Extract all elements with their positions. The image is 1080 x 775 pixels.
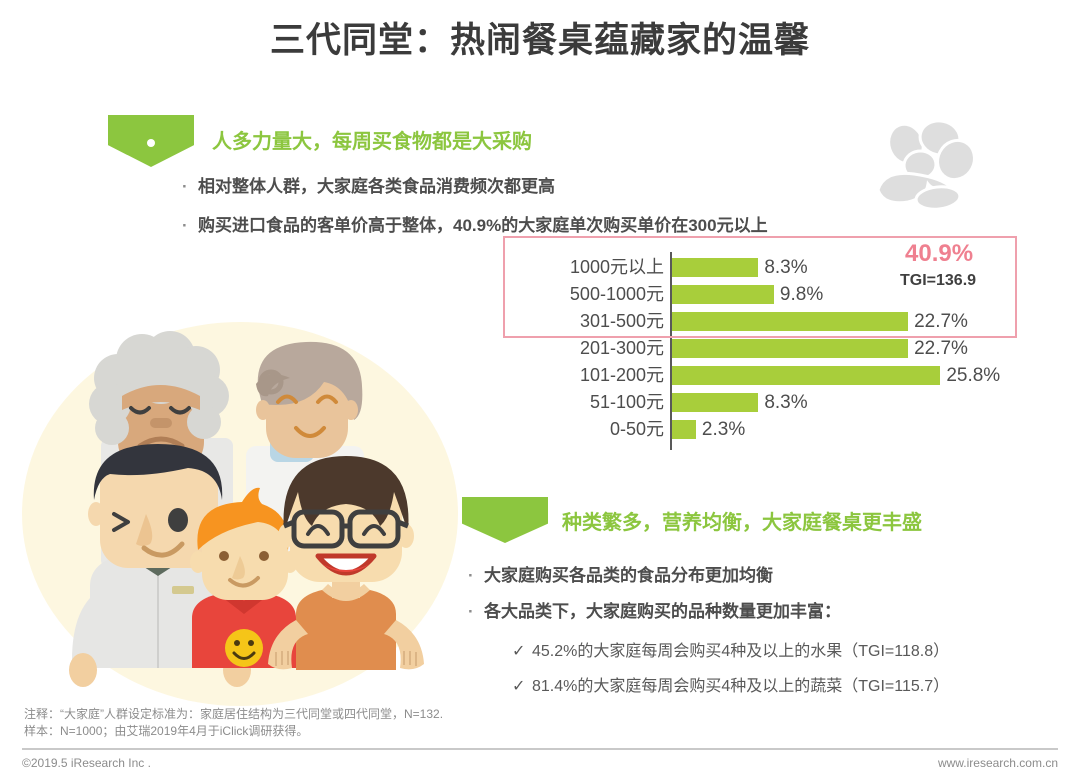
chart-row: 101-200元25.8% <box>516 362 1016 389</box>
bullet-bottom-2: ·各大品类下，大家庭购买的品种数量更加丰富： <box>468 597 841 622</box>
check-item-2: ✓81.4%的大家庭每周会购买4种及以上的蔬菜（TGI=115.7） <box>512 672 949 696</box>
bullet-top-2: ·购买进口食品的客单价高于整体，40.9%的大家庭单次购买单价在300元以上 <box>182 211 768 236</box>
bullet-bottom-2-text: 各大品类下，大家庭购买的品种数量更加丰富： <box>484 602 841 621</box>
chart-bar <box>672 366 940 385</box>
check-item-1: ✓45.2%的大家庭每周会购买4种及以上的水果（TGI=118.8） <box>512 637 949 661</box>
chart-value-label: 2.3% <box>702 416 745 443</box>
family-illustration <box>18 318 468 710</box>
chart-bar <box>672 285 774 304</box>
chart-row: 0-50元2.3% <box>516 416 1016 443</box>
chart-value-label: 9.8% <box>780 281 823 308</box>
slide-page: 三代同堂：热闹餐桌蕴藏家的温馨 <box>0 0 1080 775</box>
chart-category-label: 51-100元 <box>590 389 664 416</box>
footnote-2: 样本：N=1000；由艾瑞2019年4月于iClick调研获得。 <box>24 722 308 739</box>
chart-bar <box>672 339 908 358</box>
bullet-dot-icon: · <box>468 602 484 622</box>
chart-row: 301-500元22.7% <box>516 308 1016 335</box>
bullet-bottom-1: ·大家庭购买各品类的食品分布更加均衡 <box>468 561 773 586</box>
chart-category-label: 0-50元 <box>610 416 664 443</box>
highlight-tgi: TGI=136.9 <box>900 272 976 290</box>
chart-value-label: 25.8% <box>946 362 1000 389</box>
footer-copyright: ©2019.5 iResearch Inc . <box>22 756 151 770</box>
chart-row: 201-300元22.7% <box>516 335 1016 362</box>
bullet-top-2-text: 购买进口食品的客单价高于整体，40.9%的大家庭单次购买单价在300元以上 <box>198 216 768 235</box>
chart-value-label: 8.3% <box>764 389 807 416</box>
highlight-percent: 40.9% <box>905 240 973 268</box>
footnote-1: 注释：“大家庭”人群设定标准为：家庭居住结构为三代同堂或四代同堂，N=132. <box>24 705 443 722</box>
chart-value-label: 22.7% <box>914 335 968 362</box>
check-item-1-text: 45.2%的大家庭每周会购买4种及以上的水果（TGI=118.8） <box>532 643 949 660</box>
chart-value-label: 8.3% <box>764 254 807 281</box>
chart-value-label: 22.7% <box>914 308 968 335</box>
footer-url[interactable]: www.iresearch.com.cn <box>938 756 1058 770</box>
chart-bar <box>672 420 696 439</box>
check-icon: ✓ <box>512 641 532 661</box>
chart-bar <box>672 258 758 277</box>
bullet-dot-icon: · <box>468 566 484 586</box>
food-watermark-icon <box>868 118 1028 228</box>
bullet-bottom-1-text: 大家庭购买各品类的食品分布更加均衡 <box>484 566 773 585</box>
chart-category-label: 201-300元 <box>580 335 664 362</box>
section-tag-bottom <box>462 497 548 543</box>
bullet-top-1-text: 相对整体人群，大家庭各类食品消费频次都更高 <box>198 177 555 196</box>
chart-bar <box>672 393 758 412</box>
chart-category-label: 500-1000元 <box>570 281 664 308</box>
bullet-dot-icon: · <box>182 216 198 236</box>
section-heading-top: 人多力量大，每周买食物都是大采购 <box>212 125 532 154</box>
chart-category-label: 101-200元 <box>580 362 664 389</box>
page-title: 三代同堂：热闹餐桌蕴藏家的温馨 <box>0 12 1080 63</box>
footer-divider <box>22 748 1058 750</box>
chart-bar <box>672 312 908 331</box>
bullet-dot-icon: · <box>182 177 198 197</box>
check-icon: ✓ <box>512 676 532 696</box>
chart-category-label: 301-500元 <box>580 308 664 335</box>
chart-row: 51-100元8.3% <box>516 389 1016 416</box>
tag-dot-icon <box>147 139 155 147</box>
section-heading-bottom: 种类繁多，营养均衡，大家庭餐桌更丰盛 <box>562 506 922 535</box>
bullet-top-1: ·相对整体人群，大家庭各类食品消费频次都更高 <box>182 172 555 197</box>
section-tag-top <box>108 115 194 167</box>
chart-category-label: 1000元以上 <box>570 254 664 281</box>
check-item-2-text: 81.4%的大家庭每周会购买4种及以上的蔬菜（TGI=115.7） <box>532 678 949 695</box>
